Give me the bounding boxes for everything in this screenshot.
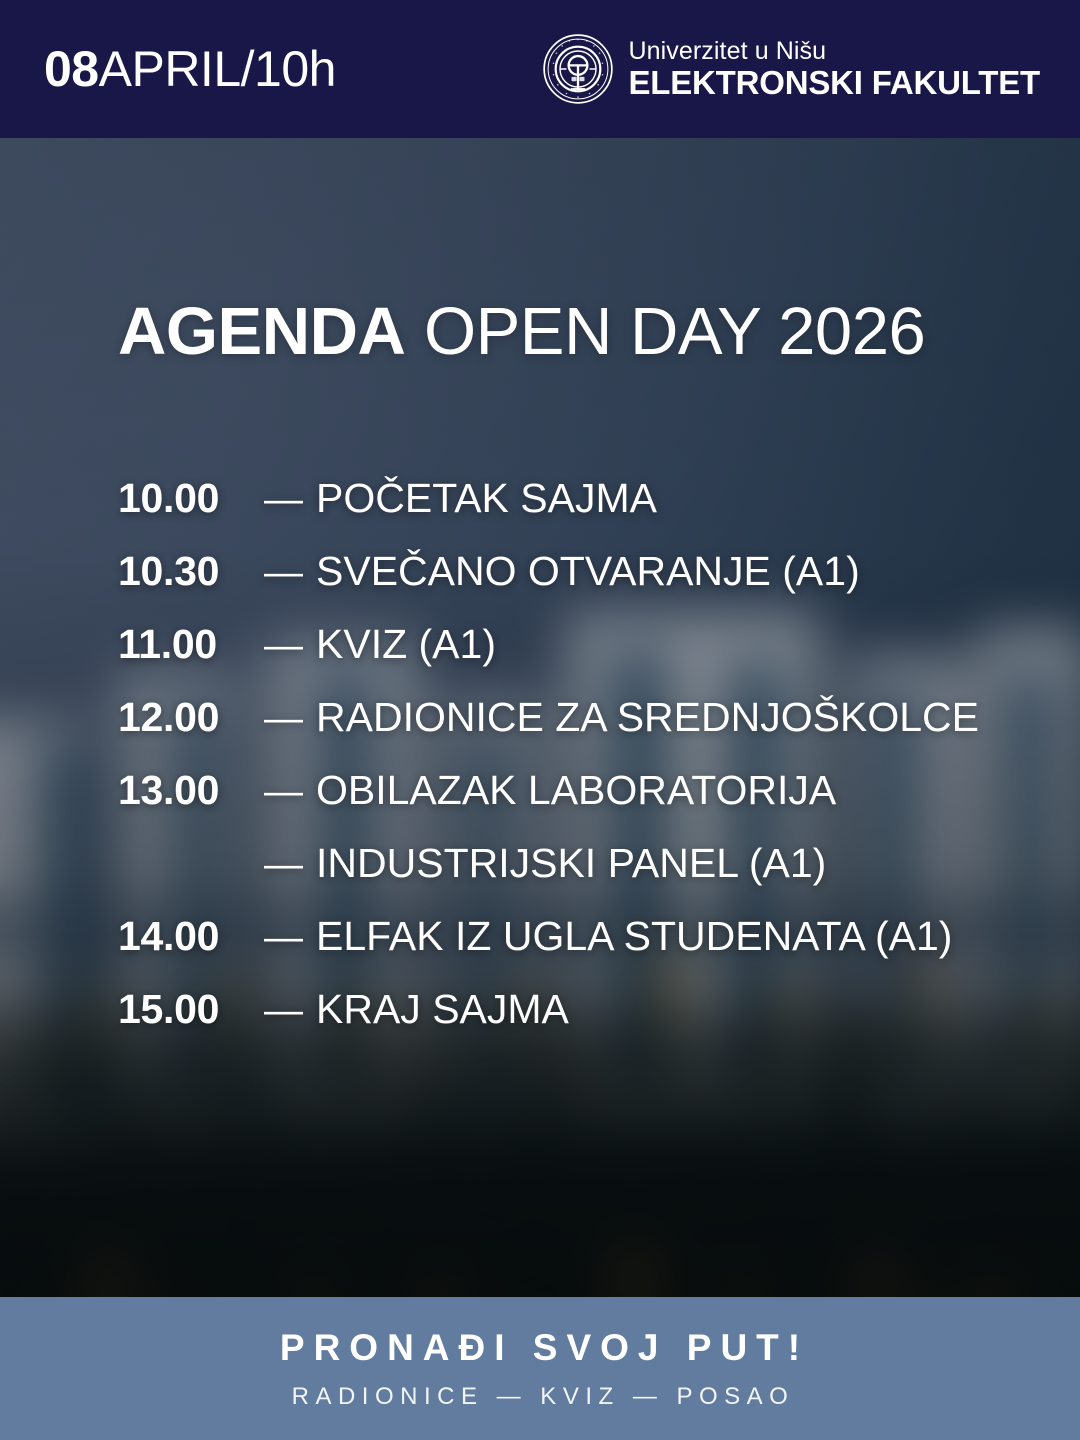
agenda-label: SVEČANO OTVARANJE (A1) — [316, 548, 860, 595]
agenda-time: 11.00 — [118, 621, 264, 668]
event-date-day: 08 — [44, 41, 99, 97]
event-date-rest: APRIL/10h — [99, 41, 336, 97]
agenda-label: OBILAZAK LABORATORIJA — [316, 767, 836, 814]
page-title-light: OPEN DAY 2026 — [424, 294, 925, 369]
agenda-dash: — — [264, 916, 316, 960]
poster-canvas: 08APRIL/10h — [0, 0, 1080, 1440]
agenda-dash: — — [264, 551, 316, 595]
footer-tags: RADIONICE — KVIZ — POSAO — [286, 1385, 795, 1409]
agenda-label: POČETAK SAJMA — [316, 475, 657, 522]
agenda-label: KVIZ (A1) — [316, 621, 496, 668]
university-seal-icon — [542, 33, 614, 105]
agenda-dash: — — [264, 989, 316, 1033]
agenda-dash: — — [264, 624, 316, 668]
agenda-row: 13.00—OBILAZAK LABORATORIJA — [118, 767, 1018, 840]
agenda-label: RADIONICE ZA SREDNJOŠKOLCE — [316, 694, 979, 741]
university-name: Univerzitet u Nišu — [628, 38, 1040, 64]
agenda-dash: — — [264, 478, 316, 522]
agenda-dash: — — [264, 843, 316, 887]
university-logo: Univerzitet u Nišu ELEKTRONSKI FAKULTET — [542, 33, 1040, 105]
agenda-row: 11.00—KVIZ (A1) — [118, 621, 1018, 694]
agenda-time: 12.00 — [118, 694, 264, 741]
agenda-dash: — — [264, 770, 316, 814]
agenda-row: 14.00—ELFAK IZ UGLA STUDENATA (A1) — [118, 913, 1018, 986]
agenda-row: 10.00—POČETAK SAJMA — [118, 475, 1018, 548]
agenda-time: 15.00 — [118, 986, 264, 1033]
agenda-list: 10.00—POČETAK SAJMA10.30—SVEČANO OTVARAN… — [118, 475, 1018, 1059]
footer-bar: PRONAĐI SVOJ PUT! RADIONICE — KVIZ — POS… — [0, 1297, 1080, 1440]
agenda-row: 10.30—SVEČANO OTVARANJE (A1) — [118, 548, 1018, 621]
agenda-row: —INDUSTRIJSKI PANEL (A1) — [118, 840, 1018, 913]
event-date: 08APRIL/10h — [44, 44, 336, 94]
agenda-label: KRAJ SAJMA — [316, 986, 569, 1033]
page-title: AGENDA OPEN DAY 2026 — [118, 298, 925, 365]
agenda-time: 10.30 — [118, 548, 264, 595]
main-content: AGENDA OPEN DAY 2026 10.00—POČETAK SAJMA… — [0, 138, 1080, 1297]
header-bar: 08APRIL/10h — [0, 0, 1080, 138]
page-title-strong: AGENDA — [118, 294, 405, 369]
agenda-time: 14.00 — [118, 913, 264, 960]
agenda-label: INDUSTRIJSKI PANEL (A1) — [316, 840, 826, 887]
footer-slogan: PRONAĐI SVOJ PUT! — [271, 1329, 809, 1366]
agenda-row: 15.00—KRAJ SAJMA — [118, 986, 1018, 1059]
faculty-name: ELEKTRONSKI FAKULTET — [628, 66, 1040, 101]
agenda-label: ELFAK IZ UGLA STUDENATA (A1) — [316, 913, 952, 960]
agenda-time: 10.00 — [118, 475, 264, 522]
agenda-dash: — — [264, 697, 316, 741]
university-logo-text: Univerzitet u Nišu ELEKTRONSKI FAKULTET — [628, 38, 1040, 101]
agenda-time: 13.00 — [118, 767, 264, 814]
agenda-row: 12.00—RADIONICE ZA SREDNJOŠKOLCE — [118, 694, 1018, 767]
